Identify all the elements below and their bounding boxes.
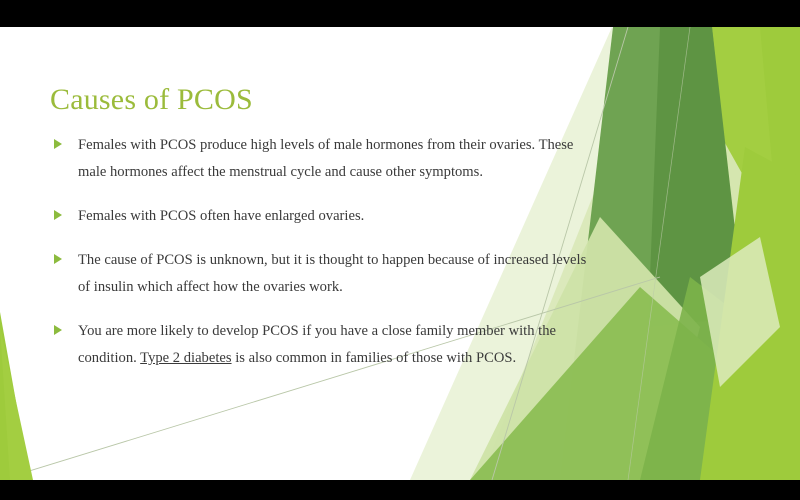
text-segment: Females with PCOS often have enlarged ov…: [78, 208, 364, 224]
text-segment: The cause of PCOS is unknown, but it is …: [78, 252, 586, 295]
list-item: The cause of PCOS is unknown, but it is …: [50, 247, 595, 301]
page-title: Causes of PCOS: [50, 83, 253, 118]
triangle-right-icon: [54, 210, 62, 220]
list-item: Females with PCOS produce high levels of…: [50, 132, 595, 186]
type-2-diabetes-link[interactable]: Type 2 diabetes: [140, 350, 231, 366]
decor-shape-bright-mid: [640, 27, 800, 480]
text-segment: Females with PCOS produce high levels of…: [78, 137, 573, 180]
triangle-right-icon: [54, 325, 62, 335]
list-item-text: Females with PCOS produce high levels of…: [78, 132, 595, 186]
decor-shape-pale-sliver: [700, 237, 780, 387]
triangle-right-icon: [54, 139, 62, 149]
list-item-text: Females with PCOS often have enlarged ov…: [78, 203, 595, 230]
triangle-right-icon: [54, 254, 62, 264]
text-segment: is also common in families of those with…: [232, 350, 517, 366]
decor-shape-dark-green: [648, 27, 745, 327]
slide-canvas[interactable]: Causes of PCOS Females with PCOS produce…: [0, 27, 800, 480]
decor-shape-bright-lower: [700, 147, 800, 480]
decor-hairline-secondary: [628, 27, 690, 480]
bullet-list: Females with PCOS produce high levels of…: [50, 132, 595, 389]
decor-shape-bright-right: [690, 27, 800, 480]
slide-viewport: Causes of PCOS Females with PCOS produce…: [0, 0, 800, 500]
list-item-text: You are more likely to develop PCOS if y…: [78, 318, 595, 372]
decor-shape-left-wedge-2: [0, 327, 33, 480]
list-item: You are more likely to develop PCOS if y…: [50, 318, 595, 372]
list-item: Females with PCOS often have enlarged ov…: [50, 203, 595, 230]
decor-shape-left-wedge: [0, 312, 30, 480]
decor-shape-dark-lower: [640, 277, 760, 480]
list-item-text: The cause of PCOS is unknown, but it is …: [78, 247, 595, 301]
